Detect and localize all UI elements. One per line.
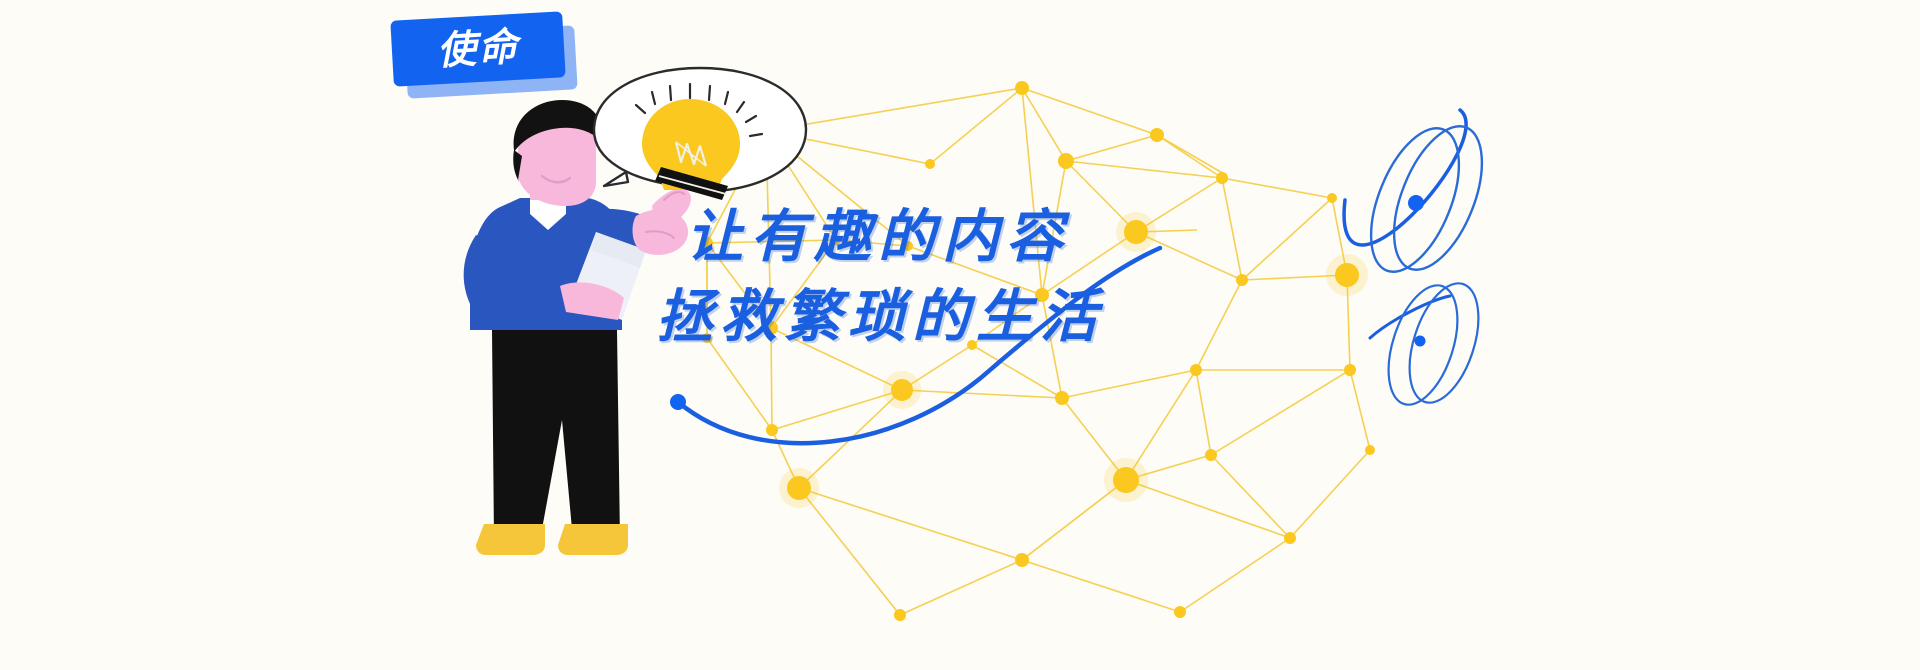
- hand-holding: [560, 282, 624, 320]
- trousers: [492, 330, 620, 540]
- bulb-base: [655, 167, 728, 200]
- badge-label: 使命: [436, 27, 520, 71]
- headline-line-1: 让有趣的内容: [686, 197, 1386, 277]
- shoe-left: [476, 524, 545, 555]
- badge-plate: 使命: [390, 11, 565, 86]
- orbit-ring-lower-icon: [1370, 275, 1492, 413]
- headline-line-2: 拯救繁琐的生活: [656, 277, 1386, 357]
- tablet: [570, 232, 646, 320]
- lightbulb-icon: [636, 84, 762, 200]
- arm-left: [464, 235, 512, 322]
- mission-badge: 使命: [392, 16, 577, 96]
- shoe-right: [558, 524, 628, 555]
- headline: 让有趣的内容 拯救繁琐的生活: [686, 197, 1386, 357]
- collar: [530, 190, 566, 230]
- arm-right: [586, 209, 660, 252]
- hair: [514, 100, 605, 152]
- speech-bubble-shape: [594, 68, 806, 192]
- shirt: [470, 198, 622, 330]
- neck: [530, 168, 566, 200]
- mission-banner: 使命 让有趣的内容 拯救繁琐的生活: [0, 0, 1920, 670]
- hand-pointing: [633, 189, 691, 255]
- head: [518, 110, 596, 206]
